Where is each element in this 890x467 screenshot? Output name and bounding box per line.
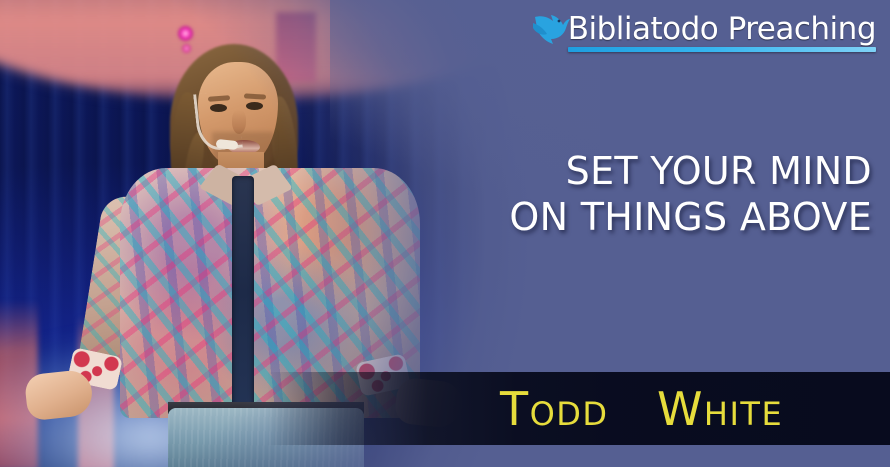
speaker-first-name: Todd	[500, 382, 609, 436]
speaker-name: Todd White	[500, 386, 783, 432]
logo-underline	[568, 47, 876, 52]
headline-line-2: ON THINGS ABOVE	[509, 194, 872, 240]
bibliatodo-logo[interactable]: Bibliatodo Preaching	[532, 6, 876, 52]
speaker-name-band: Todd White	[0, 372, 890, 445]
logo-text: Bibliatodo Preaching	[568, 14, 876, 45]
headline-line-1: SET YOUR MIND	[509, 148, 872, 194]
preaching-banner: Bibliatodo Preaching SET YOUR MIND ON TH…	[0, 0, 890, 467]
headline: SET YOUR MIND ON THINGS ABOVE	[509, 148, 872, 241]
speaker-last-name: White	[657, 382, 783, 436]
dove-icon	[532, 8, 572, 48]
